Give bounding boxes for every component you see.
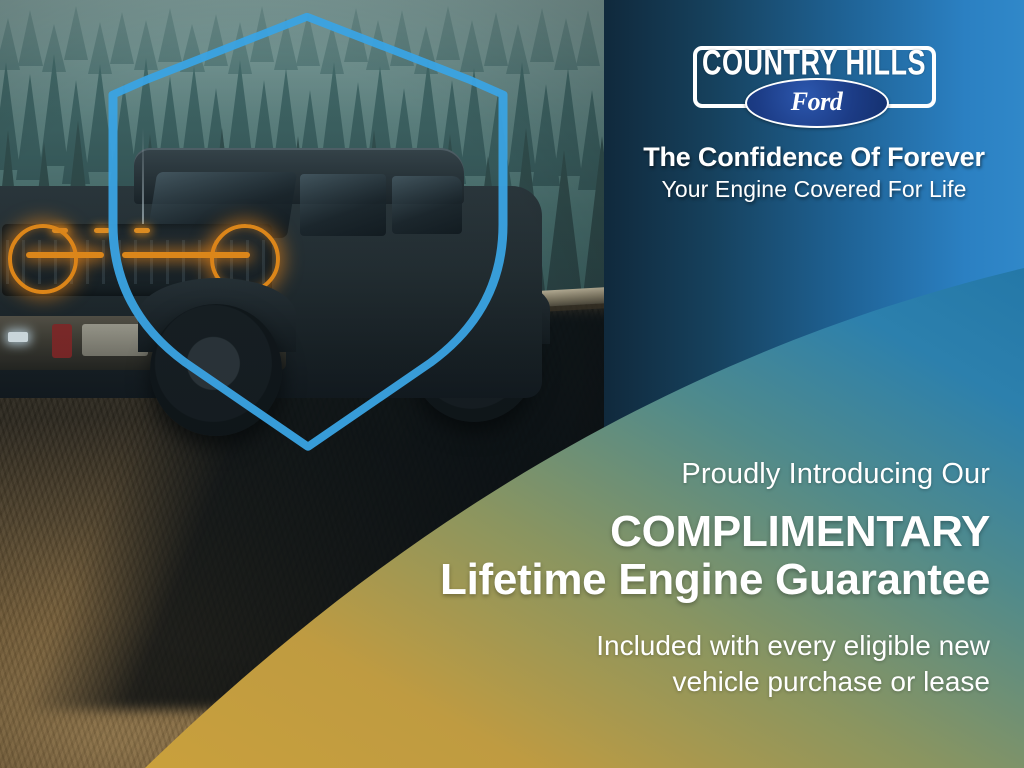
ford-oval-logo: Ford	[745, 78, 889, 128]
offer-block: Proudly Introducing Our COMPLIMENTARY Li…	[330, 458, 990, 700]
ford-oval-text: Ford	[747, 87, 887, 117]
promotional-banner: COUNTRY HILLS Ford The Confidence Of For…	[0, 0, 1024, 768]
offer-headline-line1: COMPLIMENTARY	[330, 509, 990, 555]
dealer-logo[interactable]: COUNTRY HILLS Ford	[693, 46, 936, 128]
offer-intro: Proudly Introducing Our	[330, 458, 990, 491]
tagline-secondary: Your Engine Covered For Life	[604, 176, 1024, 203]
offer-subtext-line2: vehicle purchase or lease	[330, 664, 990, 700]
tagline-primary: The Confidence Of Forever	[604, 142, 1024, 173]
logo-wordmark: COUNTRY HILLS	[693, 46, 936, 82]
offer-headline-line2: Lifetime Engine Guarantee	[330, 555, 990, 604]
header-block: COUNTRY HILLS Ford The Confidence Of For…	[604, 46, 1024, 203]
offer-subtext-line1: Included with every eligible new	[330, 628, 990, 664]
